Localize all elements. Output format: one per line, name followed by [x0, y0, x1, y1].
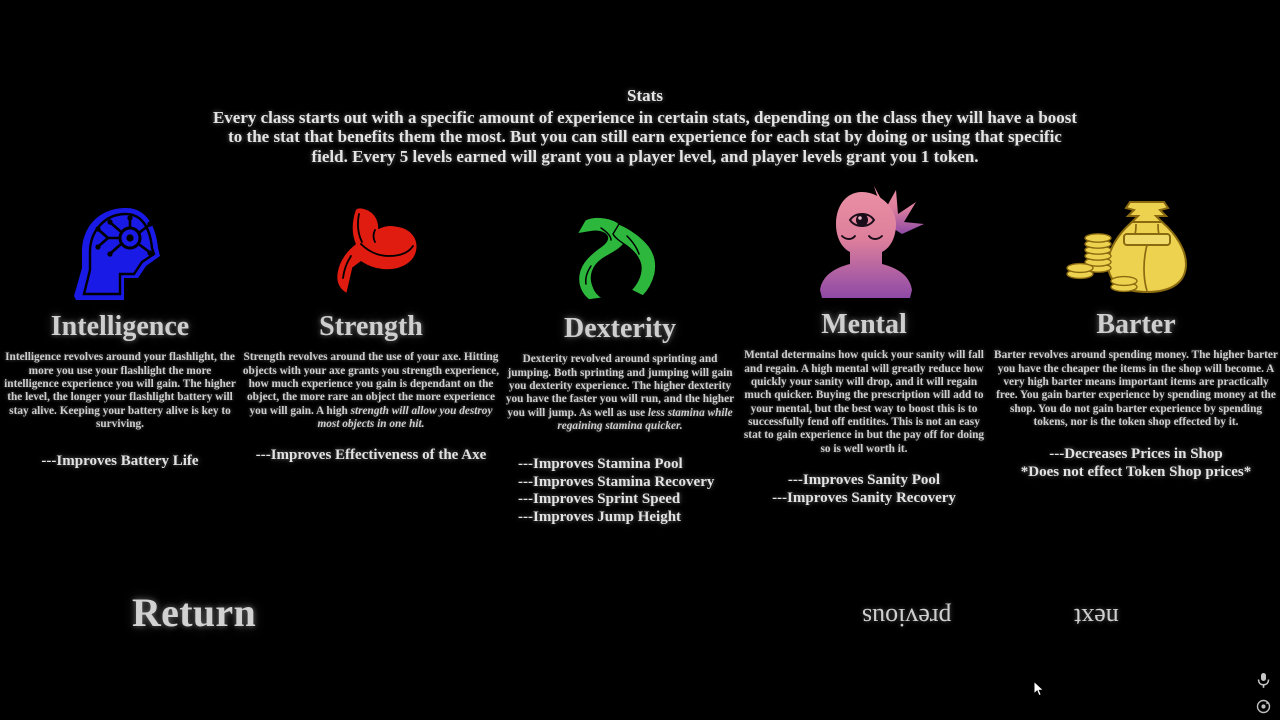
stats-intro-text: Every class starts out with a specific a…: [210, 108, 1080, 167]
stat-bullets-barter: ---Decreases Prices in Shop *Does not ef…: [992, 446, 1280, 481]
bullet-item: ---Decreases Prices in Shop: [992, 446, 1280, 464]
stat-card-barter: Barter Barter revolves around spending m…: [992, 194, 1280, 481]
bullet-item: ---Improves Stamina Pool: [518, 456, 736, 474]
stat-bullets-mental: ---Improves Sanity Pool ---Improves Sani…: [738, 472, 990, 507]
money-bag-icon: [992, 194, 1280, 302]
stat-description-mental: Mental determains how quick your sanity …: [738, 349, 990, 456]
stat-description-strength: Strength revolves around the use of your…: [240, 351, 502, 431]
bullet-item: ---Improves Stamina Recovery: [518, 474, 736, 492]
bullet-item: ---Improves Jump Height: [518, 509, 736, 527]
stat-card-strength: Strength Strength revolves around the us…: [240, 196, 502, 465]
bullet-item: ---Improves Sanity Pool: [738, 472, 990, 490]
stat-title-intelligence: Intelligence: [2, 312, 238, 341]
stat-card-intelligence: Intelligence Intelligence revolves aroun…: [2, 196, 238, 471]
stat-title-strength: Strength: [240, 312, 502, 341]
stat-card-dexterity: Dexterity Dexterity revolved around spri…: [504, 198, 736, 527]
return-button[interactable]: Return: [132, 589, 256, 636]
third-eye-figure-icon: [738, 194, 990, 302]
corner-overlay-icons: [1252, 672, 1274, 714]
stat-description-intelligence: Intelligence revolves around your flashl…: [2, 351, 238, 431]
bullet-item: ---Improves Battery Life: [2, 453, 238, 471]
stat-card-mental: Mental Mental determains how quick your …: [738, 194, 990, 507]
stats-header: Stats Every class starts out with a spec…: [210, 86, 1080, 166]
stat-title-barter: Barter: [992, 310, 1280, 339]
stat-bullets-dexterity: ---Improves Stamina Pool ---Improves Sta…: [504, 456, 736, 526]
stats-columns: Intelligence Intelligence revolves aroun…: [0, 196, 1280, 556]
cyber-head-icon: [2, 196, 238, 304]
stat-title-dexterity: Dexterity: [504, 314, 736, 343]
stat-bullets-strength: ---Improves Effectiveness of the Axe: [240, 447, 502, 465]
bullet-item: *Does not effect Token Shop prices*: [992, 464, 1280, 482]
stat-description-barter: Barter revolves around spending money. T…: [992, 349, 1280, 429]
bullet-item: ---Improves Sanity Recovery: [738, 490, 990, 508]
recenter-icon[interactable]: [1256, 699, 1271, 714]
previous-button[interactable]: previous: [862, 602, 952, 632]
flexed-bicep-icon: [240, 196, 502, 304]
next-button[interactable]: next: [1074, 602, 1119, 632]
stat-description-dexterity: Dexterity revolved around sprinting and …: [504, 353, 736, 433]
running-legs-icon: [504, 198, 736, 306]
bullet-item: ---Improves Effectiveness of the Axe: [240, 447, 502, 465]
stat-title-mental: Mental: [738, 310, 990, 339]
page-title: Stats: [210, 86, 1080, 106]
mouse-cursor: [1033, 681, 1045, 697]
bullet-item: ---Improves Sprint Speed: [518, 491, 736, 509]
stats-screen: Stats Every class starts out with a spec…: [0, 0, 1280, 720]
microphone-icon[interactable]: [1256, 672, 1271, 689]
stat-bullets-intelligence: ---Improves Battery Life: [2, 453, 238, 471]
